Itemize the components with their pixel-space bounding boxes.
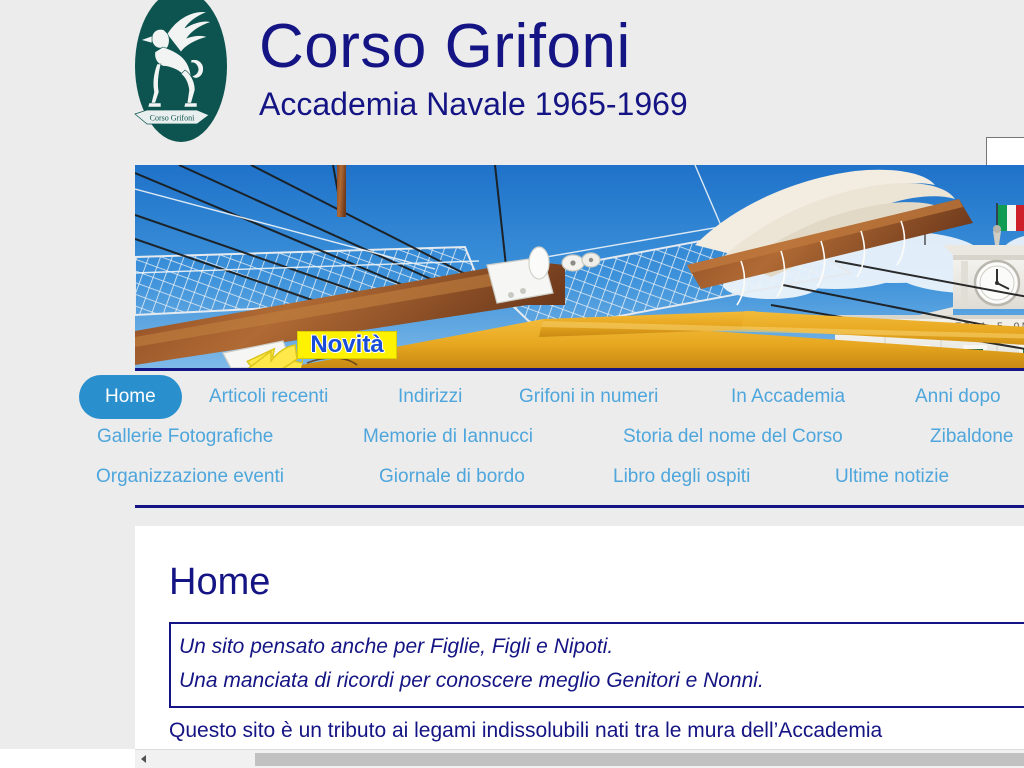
nav-item-gallerie-fotografiche[interactable]: Gallerie Fotografiche: [97, 417, 273, 457]
nav-label: Zibaldone: [930, 426, 1013, 447]
nav-item-giornale-di-bordo[interactable]: Giornale di bordo: [379, 457, 525, 497]
page-body: Corso Grifoni Corso Grifoni Accademia Na…: [135, 0, 1024, 750]
scrollbar-track[interactable]: [152, 750, 1024, 768]
nav-label: In Accademia: [731, 386, 845, 407]
nav-item-libro-degli-ospiti[interactable]: Libro degli ospiti: [613, 457, 750, 497]
nav-row-3: Organizzazione eventi Giornale di bordo …: [135, 457, 1024, 497]
crest-ribbon-text: Corso Grifoni: [150, 114, 195, 123]
chevron-left-icon[interactable]: [135, 750, 152, 768]
nav-item-anni-dopo[interactable]: Anni dopo: [915, 377, 1001, 417]
nav-label: Grifoni in numeri: [519, 386, 658, 407]
arrow-down-left-icon: [245, 341, 303, 368]
intro-line-1: Un sito pensato anche per Figlie, Figli …: [179, 630, 1024, 664]
hero-image: PATRIA E ONORE: [135, 165, 1024, 368]
search-input[interactable]: [986, 137, 1024, 167]
nav-item-grifoni-in-numeri[interactable]: Grifoni in numeri: [519, 377, 658, 417]
nav-row-2: Gallerie Fotografiche Memorie di Iannucc…: [135, 417, 1024, 457]
nav-label: Giornale di bordo: [379, 466, 525, 487]
browser-viewport: Corso Grifoni Corso Grifoni Accademia Na…: [0, 0, 1024, 768]
nav-item-memorie-di-iannucci[interactable]: Memorie di Iannucci: [363, 417, 533, 457]
nav-item-ultime-notizie[interactable]: Ultime notizie: [835, 457, 949, 497]
primary-navigation: Home Articoli recenti Indirizzi Grifoni …: [135, 368, 1024, 508]
novita-label: Novità: [310, 333, 383, 357]
hero-banner: PATRIA E ONORE: [135, 165, 1024, 368]
nav-label: Anni dopo: [915, 386, 1001, 407]
nav-item-in-accademia[interactable]: In Accademia: [731, 377, 845, 417]
griffin-crest-icon[interactable]: Corso Grifoni: [135, 0, 227, 150]
nav-label: Libro degli ospiti: [613, 466, 750, 487]
nav-label: Memorie di Iannucci: [363, 426, 533, 447]
nav-label: Indirizzi: [398, 386, 462, 407]
nav-label: Organizzazione eventi: [96, 466, 284, 487]
horizontal-scrollbar[interactable]: [135, 749, 1024, 768]
nav-item-zibaldone[interactable]: Zibaldone: [930, 417, 1013, 457]
intro-callout-box: Un sito pensato anche per Figlie, Figli …: [169, 622, 1024, 708]
nav-label: Storia del nome del Corso: [623, 426, 843, 447]
scrollbar-thumb[interactable]: [255, 753, 1024, 766]
scrollbar-gutter: [0, 749, 135, 768]
search-form[interactable]: [986, 137, 1024, 167]
nav-row-1: Home Articoli recenti Indirizzi Grifoni …: [135, 377, 1024, 417]
nav-item-organizzazione-eventi[interactable]: Organizzazione eventi: [96, 457, 284, 497]
nav-label: Ultime notizie: [835, 466, 949, 487]
site-tagline: Accademia Navale 1965-1969: [259, 88, 688, 120]
nav-item-indirizzi[interactable]: Indirizzi: [398, 377, 462, 417]
nav-item-articoli-recenti[interactable]: Articoli recenti: [209, 377, 328, 417]
page-title: Corso Grifoni: [259, 16, 688, 78]
nav-label: Home: [105, 386, 156, 407]
novita-callout-badge[interactable]: Novità: [297, 331, 397, 359]
intro-line-2: Una manciata di ricordi per conoscere me…: [179, 664, 1024, 698]
crest-ribbon: Corso Grifoni: [133, 108, 211, 132]
body-paragraph: Questo sito è un tributo ai legami indis…: [169, 714, 1024, 748]
nav-label: Gallerie Fotografiche: [97, 426, 273, 447]
site-masthead: Corso Grifoni Corso Grifoni Accademia Na…: [135, 0, 1024, 165]
nav-item-home[interactable]: Home: [79, 375, 182, 419]
nav-label: Articoli recenti: [209, 386, 328, 407]
nav-item-storia-del-nome-del-corso[interactable]: Storia del nome del Corso: [623, 417, 843, 457]
site-identity: Corso Grifoni Accademia Navale 1965-1969: [259, 16, 688, 120]
italian-flag-icon: [998, 205, 1024, 231]
content-panel: Home Un sito pensato anche per Figlie, F…: [135, 526, 1024, 757]
griffin-figure-icon: [137, 4, 215, 112]
content-heading: Home: [169, 562, 1024, 604]
